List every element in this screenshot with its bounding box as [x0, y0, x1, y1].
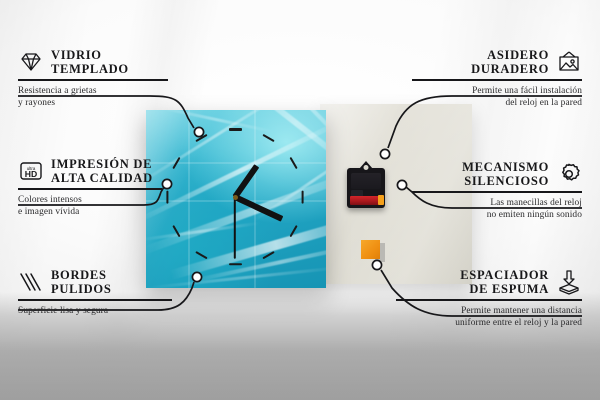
callout-dot-mecanismo	[397, 180, 406, 189]
callout-dot-asidero	[380, 149, 389, 158]
callout-header: BORDESPULIDOS	[18, 268, 172, 296]
callout-header: VIDRIOTEMPLADO	[18, 48, 168, 76]
ultra-hd-icon: ultra HD	[18, 158, 44, 184]
callout-description: Superficie lisa y segura	[18, 305, 172, 317]
callout-title: MECANISMOSILENCIOSO	[462, 160, 549, 188]
arrow-into-foam-icon	[556, 269, 582, 295]
callout-dot-espaciador	[372, 260, 381, 269]
callout-title: ESPACIADORDE ESPUMA	[460, 268, 549, 296]
callout-impresion-alta-calidad: ultra HD IMPRESIÓN DEALTA CALIDAD Colore…	[18, 157, 162, 218]
diagonal-lines-icon	[18, 269, 44, 295]
callout-bordes-pulidos: BORDESPULIDOS Superficie lisa y segura	[18, 268, 172, 317]
callout-description: Permite una fácil instalacióndel reloj e…	[412, 85, 582, 109]
callout-description: Las manecillas del relojno emiten ningún…	[412, 197, 582, 221]
callout-dot-impresion	[162, 179, 171, 188]
callout-rule	[18, 299, 172, 301]
callout-rule	[412, 79, 582, 81]
callout-dot-bordes	[192, 272, 201, 281]
callout-description: Permite mantener una distanciauniforme e…	[396, 305, 582, 329]
callout-header: ASIDERODURADERO	[412, 48, 582, 76]
callout-description: Colores intensose imagen vívida	[18, 194, 162, 218]
callout-header: MECANISMOSILENCIOSO	[412, 160, 582, 188]
callout-espaciador-de-espuma: ESPACIADORDE ESPUMA Permite mantener una…	[396, 268, 582, 329]
callout-title: IMPRESIÓN DEALTA CALIDAD	[51, 157, 153, 185]
callout-title: ASIDERODURADERO	[471, 48, 549, 76]
callout-rule	[412, 191, 582, 193]
callout-rule	[396, 299, 582, 301]
callout-description: Resistencia a grietasy rayones	[18, 85, 168, 109]
picture-frame-icon	[556, 49, 582, 75]
infographic-canvas: VIDRIOTEMPLADO Resistencia a grietasy ra…	[0, 0, 600, 400]
callout-asidero-duradero: ASIDERODURADERO Permite una fácil instal…	[412, 48, 582, 109]
callout-header: ESPACIADORDE ESPUMA	[396, 268, 582, 296]
callout-vidrio-templado: VIDRIOTEMPLADO Resistencia a grietasy ra…	[18, 48, 168, 109]
callout-title: VIDRIOTEMPLADO	[51, 48, 129, 76]
callout-header: ultra HD IMPRESIÓN DEALTA CALIDAD	[18, 157, 162, 185]
svg-text:HD: HD	[25, 169, 37, 179]
callout-title: BORDESPULIDOS	[51, 268, 111, 296]
callout-rule	[18, 188, 162, 190]
callout-rule	[18, 79, 168, 81]
callout-dot-vidrio-templado	[194, 127, 203, 136]
diamond-icon	[18, 49, 44, 75]
callout-mecanismo-silencioso: MECANISMOSILENCIOSO Las manecillas del r…	[412, 160, 582, 221]
gear-icon	[556, 161, 582, 187]
